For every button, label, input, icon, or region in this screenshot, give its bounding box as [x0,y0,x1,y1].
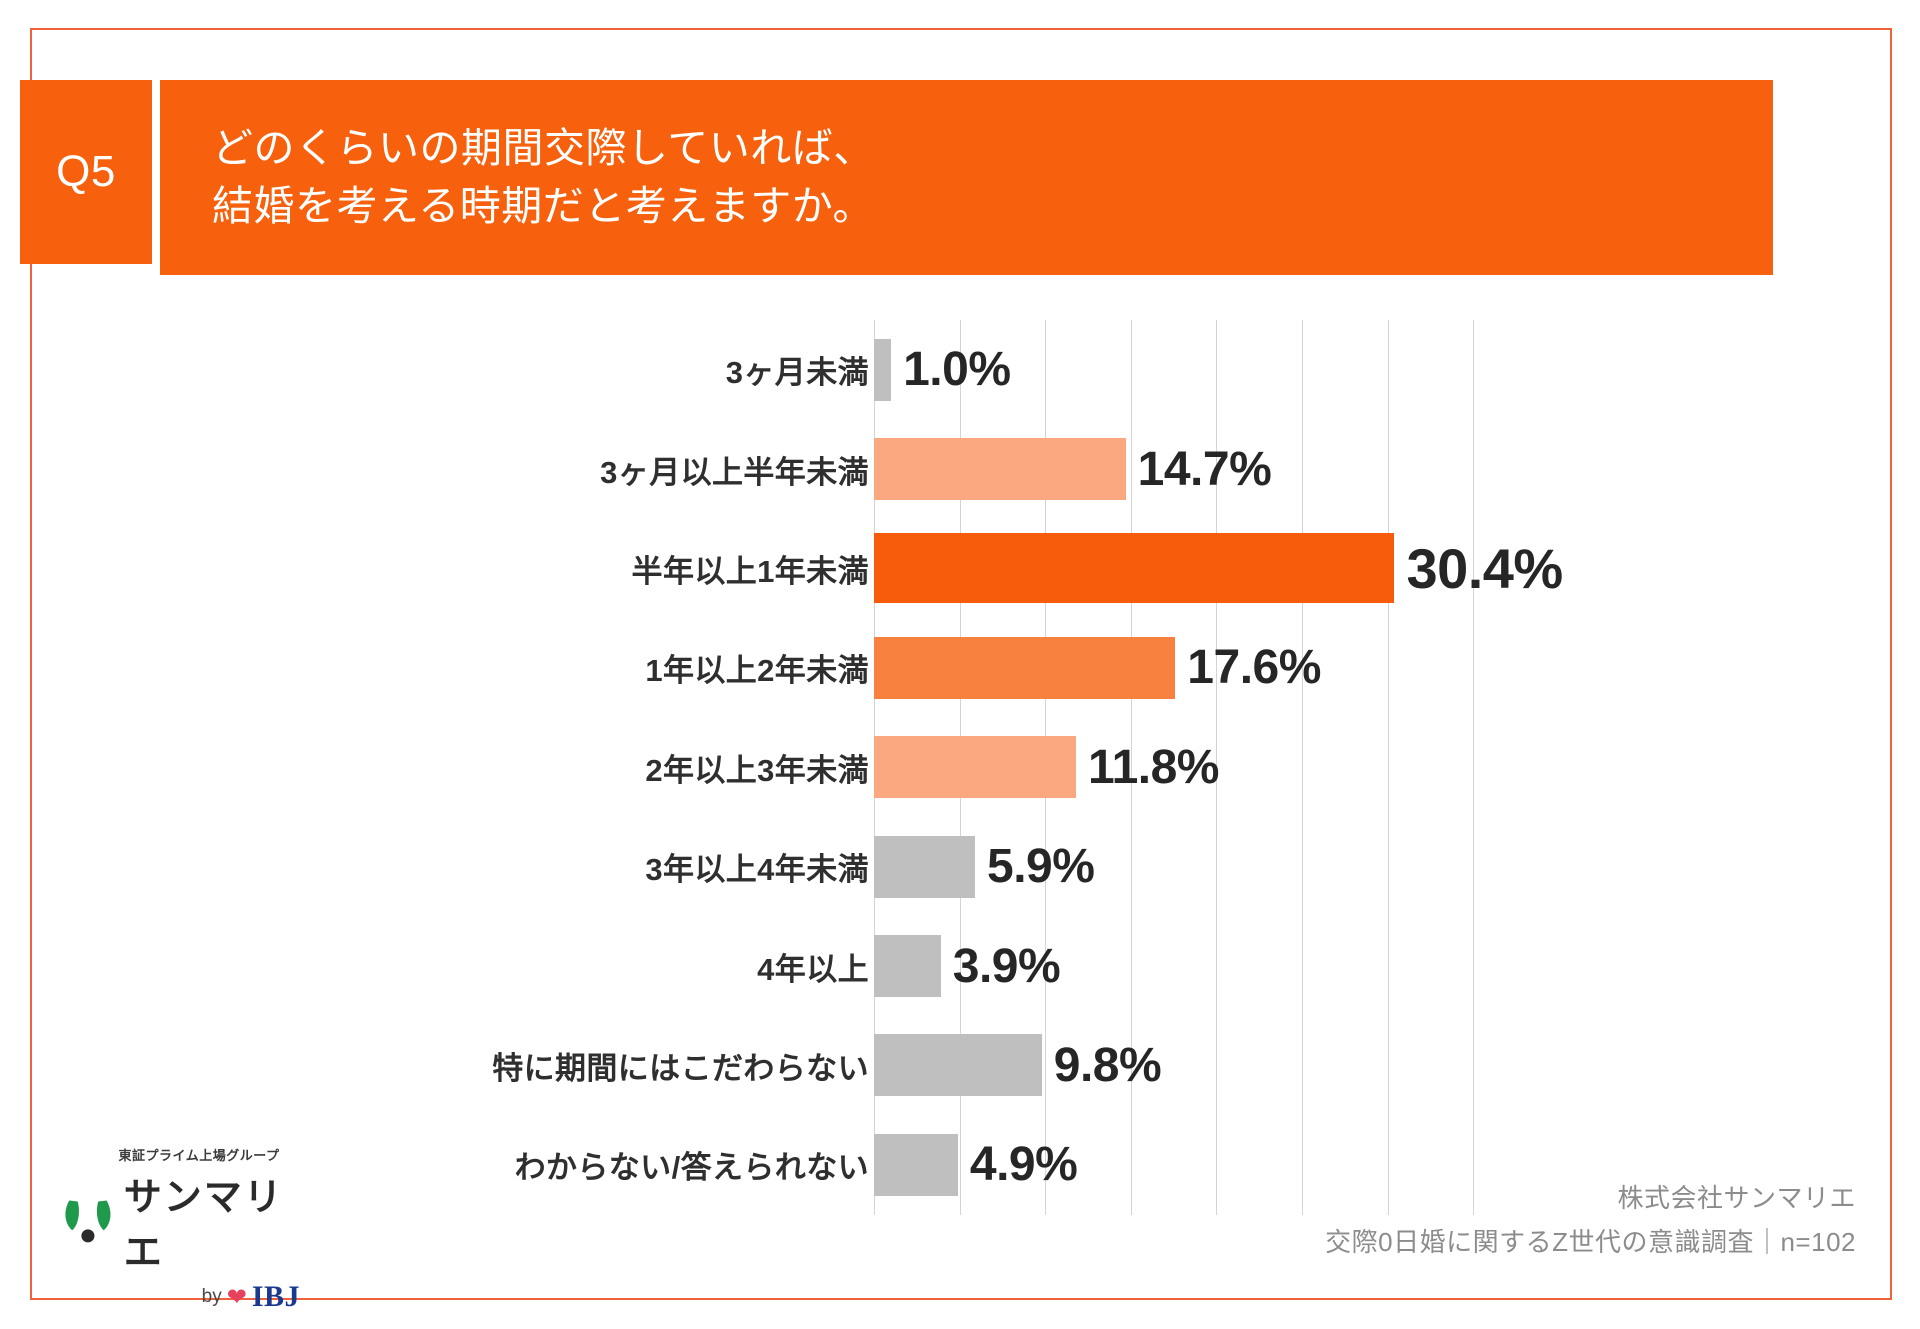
bar-group: 9.8% [874,1016,1161,1115]
bar [874,339,891,401]
bar-group: 11.8% [874,718,1219,817]
bar [874,438,1126,500]
bar-value-label: 30.4% [1406,536,1562,601]
logo-by-label: by [202,1286,222,1308]
question-title-line-1: どのくらいの期間交際していれば、 [212,120,1773,177]
bar-value-label: 4.9% [970,1137,1077,1192]
bar-value-label: 11.8% [1088,740,1219,795]
bar [874,533,1394,603]
bar-value-label: 9.8% [1054,1038,1161,1093]
heart-icon: ❤ [227,1283,247,1312]
category-label: 3年以上4年未満 [169,844,869,889]
bar-group: 3.9% [874,916,1060,1015]
chart-row: 1年以上2年未満17.6% [0,618,1920,717]
category-label: 3ヶ月以上半年未満 [169,447,869,492]
bar-group: 4.9% [874,1115,1077,1214]
footer-survey: 交際0日婚に関するZ世代の意識調査｜n=102 [1325,1222,1856,1259]
bar-chart: 3ヶ月未満1.0%3ヶ月以上半年未満14.7%半年以上1年未満30.4%1年以上… [0,320,1920,1220]
bar-value-label: 5.9% [987,839,1094,894]
question-title-bar: どのくらいの期間交際していれば、 結婚を考える時期だと考えますか。 [160,80,1773,275]
company-logo: 東証プライム上場グループ サンマリエ by ❤ IBJ [60,1145,310,1314]
logo-partner-row: by ❤ IBJ [60,1280,310,1314]
bar [874,1034,1042,1096]
footer-company: 株式会社サンマリエ [1617,1178,1856,1215]
question-number-label: Q5 [56,147,116,197]
question-title-line-2: 結婚を考える時期だと考えますか。 [212,178,1773,235]
category-label: 4年以上 [169,944,869,989]
logo-tagline: 東証プライム上場グループ [88,1145,310,1164]
question-number-badge: Q5 [20,80,152,264]
bar-group: 1.0% [874,320,1011,419]
bar [874,836,975,898]
slide-root: Q5 どのくらいの期間交際していれば、 結婚を考える時期だと考えますか。 3ヶ月… [0,0,1920,1329]
bar-value-label: 1.0% [903,342,1010,397]
bar [874,736,1076,798]
bar [874,935,941,997]
bar-group: 14.7% [874,419,1271,518]
chart-row: 3ヶ月以上半年未満14.7% [0,419,1920,518]
chart-row: 3ヶ月未満1.0% [0,320,1920,419]
logo-mark-row: サンマリエ [60,1166,310,1276]
bar-value-label: 17.6% [1187,640,1321,695]
chart-row: 半年以上1年未満30.4% [0,519,1920,618]
logo-partner-name: IBJ [252,1280,300,1314]
logo-company-name: サンマリエ [124,1166,310,1276]
chart-row: 2年以上3年未満11.8% [0,718,1920,817]
category-label: 1年以上2年未満 [169,645,869,690]
holly-leaf-icon [60,1195,118,1247]
bar-group: 30.4% [874,519,1563,618]
category-label: 3ヶ月未満 [169,347,869,392]
bar-group: 5.9% [874,817,1094,916]
bar [874,1134,958,1196]
category-label: 2年以上3年未満 [169,745,869,790]
bar-value-label: 14.7% [1138,442,1272,497]
chart-rows: 3ヶ月未満1.0%3ヶ月以上半年未満14.7%半年以上1年未満30.4%1年以上… [0,320,1920,1215]
chart-row: 3年以上4年未満5.9% [0,817,1920,916]
category-label: 特に期間にはこだわらない [169,1043,869,1088]
chart-row: 4年以上3.9% [0,916,1920,1015]
bar [874,637,1175,699]
bar-value-label: 3.9% [953,939,1060,994]
chart-row: 特に期間にはこだわらない9.8% [0,1016,1920,1115]
category-label: 半年以上1年未満 [169,546,869,591]
bar-group: 17.6% [874,618,1321,717]
